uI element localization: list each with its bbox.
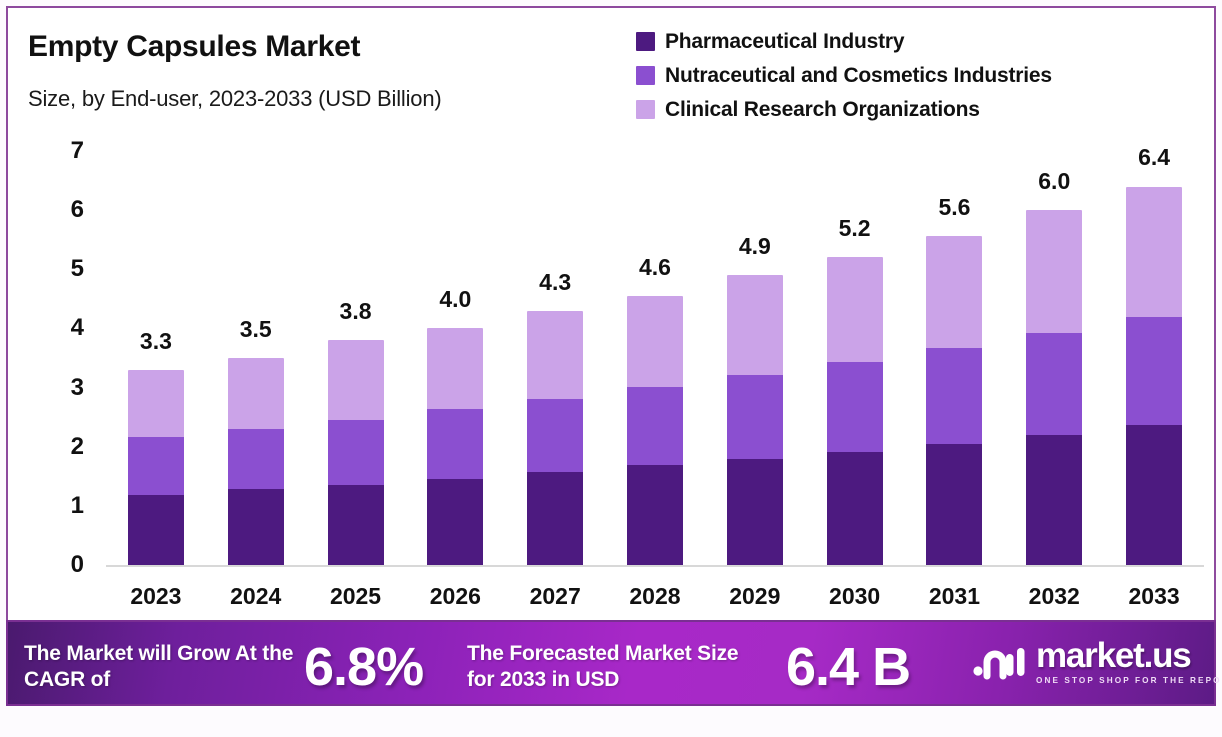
- bar-segment[interactable]: [228, 489, 284, 565]
- stacked-bar[interactable]: [926, 236, 982, 565]
- bar-group[interactable]: 4.32027: [505, 8, 605, 618]
- bar-group[interactable]: 6.02032: [1004, 8, 1104, 618]
- bar-segment[interactable]: [827, 257, 883, 362]
- bar-segment[interactable]: [427, 409, 483, 478]
- bar-segment[interactable]: [1126, 317, 1182, 426]
- market-us-logo-icon: [973, 640, 1027, 685]
- y-axis-tick-label: 0: [44, 551, 84, 579]
- bar-group[interactable]: 5.22030: [805, 8, 905, 618]
- bar-segment[interactable]: [128, 370, 184, 437]
- bar-segment[interactable]: [1126, 425, 1182, 565]
- y-axis-tick-label: 3: [44, 374, 84, 402]
- bar-group[interactable]: 4.92029: [705, 8, 805, 618]
- bar-segment[interactable]: [627, 296, 683, 387]
- bar-value-label: 6.0: [1004, 168, 1104, 195]
- bar-segment[interactable]: [328, 420, 384, 485]
- bar-value-label: 3.3: [106, 328, 206, 355]
- y-axis-tick-label: 2: [44, 433, 84, 461]
- bar-group[interactable]: 4.02026: [405, 8, 505, 618]
- bar-segment[interactable]: [527, 472, 583, 565]
- stacked-bar[interactable]: [1026, 210, 1082, 565]
- bar-series-container: 3.320233.520243.820254.020264.320274.620…: [106, 8, 1204, 618]
- bar-segment[interactable]: [1126, 187, 1182, 317]
- y-axis-tick-label: 7: [44, 137, 84, 165]
- cagr-value: 6.8%: [304, 636, 423, 698]
- bar-value-label: 4.6: [605, 254, 705, 281]
- stacked-bar[interactable]: [228, 358, 284, 565]
- bar-segment[interactable]: [527, 311, 583, 399]
- bar-segment[interactable]: [727, 275, 783, 374]
- x-axis-category-label: 2033: [1104, 583, 1204, 610]
- x-axis-category-label: 2030: [805, 583, 905, 610]
- bar-group[interactable]: 5.62031: [905, 8, 1005, 618]
- bar-value-label: 3.8: [306, 298, 406, 325]
- stacked-bar[interactable]: [328, 340, 384, 565]
- bar-group[interactable]: 3.82025: [306, 8, 406, 618]
- bar-group[interactable]: 6.42033: [1104, 8, 1204, 618]
- x-axis-category-label: 2027: [505, 583, 605, 610]
- bar-segment[interactable]: [1026, 333, 1082, 435]
- stacked-bar[interactable]: [827, 257, 883, 565]
- x-axis-category-label: 2025: [306, 583, 406, 610]
- bar-segment[interactable]: [228, 358, 284, 429]
- bar-segment[interactable]: [228, 429, 284, 489]
- x-axis-category-label: 2032: [1004, 583, 1104, 610]
- bar-value-label: 4.3: [505, 269, 605, 296]
- bar-group[interactable]: 3.32023: [106, 8, 206, 618]
- bar-value-label: 4.9: [705, 233, 805, 260]
- market-us-logo[interactable]: market.us ONE STOP SHOP FOR THE REPORTS: [973, 638, 1222, 685]
- bar-segment[interactable]: [128, 437, 184, 496]
- infographic-root: Empty Capsules Market Size, by End-user,…: [0, 0, 1222, 737]
- bar-segment[interactable]: [128, 495, 184, 565]
- bar-segment[interactable]: [1026, 435, 1082, 565]
- x-axis-category-label: 2029: [705, 583, 805, 610]
- bar-segment[interactable]: [727, 375, 783, 459]
- x-axis-category-label: 2023: [106, 583, 206, 610]
- y-axis-tick-label: 4: [44, 314, 84, 342]
- bar-value-label: 6.4: [1104, 144, 1204, 171]
- chart-plot-area: 01234567 3.320233.520243.820254.020264.3…: [14, 8, 1218, 618]
- bar-segment[interactable]: [527, 399, 583, 472]
- x-axis-category-label: 2028: [605, 583, 705, 610]
- bar-group[interactable]: 4.62028: [605, 8, 705, 618]
- x-axis-category-label: 2024: [206, 583, 306, 610]
- logo-wordmark: market.us: [1036, 638, 1222, 673]
- bar-value-label: 4.0: [405, 286, 505, 313]
- stacked-bar[interactable]: [527, 311, 583, 565]
- bar-value-label: 5.2: [805, 215, 905, 242]
- bar-segment[interactable]: [328, 340, 384, 419]
- bar-value-label: 5.6: [905, 194, 1005, 221]
- y-axis-tick-label: 6: [44, 196, 84, 224]
- bar-segment[interactable]: [827, 362, 883, 452]
- cagr-caption: The Market will Grow At the CAGR of: [24, 641, 294, 692]
- bar-segment[interactable]: [926, 236, 982, 348]
- bar-segment[interactable]: [427, 479, 483, 565]
- bar-segment[interactable]: [627, 465, 683, 565]
- stacked-bar[interactable]: [128, 370, 184, 565]
- bar-segment[interactable]: [627, 387, 683, 465]
- stacked-bar[interactable]: [627, 296, 683, 565]
- bar-value-label: 3.5: [206, 316, 306, 343]
- bar-segment[interactable]: [328, 485, 384, 565]
- forecast-value: 6.4 B: [786, 636, 910, 698]
- y-axis-tick-label: 1: [44, 492, 84, 520]
- chart-card: Empty Capsules Market Size, by End-user,…: [6, 6, 1216, 620]
- x-axis-category-label: 2031: [905, 583, 1005, 610]
- logo-text-block: market.us ONE STOP SHOP FOR THE REPORTS: [1036, 638, 1222, 685]
- bar-segment[interactable]: [926, 348, 982, 444]
- stacked-bar[interactable]: [1126, 187, 1182, 565]
- stacked-bar[interactable]: [727, 275, 783, 565]
- summary-banner: The Market will Grow At the CAGR of 6.8%…: [6, 620, 1216, 706]
- logo-tagline: ONE STOP SHOP FOR THE REPORTS: [1036, 676, 1222, 685]
- forecast-caption: The Forecasted Market Size for 2033 in U…: [467, 641, 747, 692]
- bar-segment[interactable]: [727, 459, 783, 565]
- stacked-bar[interactable]: [427, 328, 483, 565]
- bar-segment[interactable]: [427, 328, 483, 409]
- bar-segment[interactable]: [926, 444, 982, 565]
- y-axis-tick-label: 5: [44, 255, 84, 283]
- x-axis-category-label: 2026: [405, 583, 505, 610]
- bar-segment[interactable]: [1026, 210, 1082, 332]
- bar-segment[interactable]: [827, 452, 883, 565]
- bar-group[interactable]: 3.52024: [206, 8, 306, 618]
